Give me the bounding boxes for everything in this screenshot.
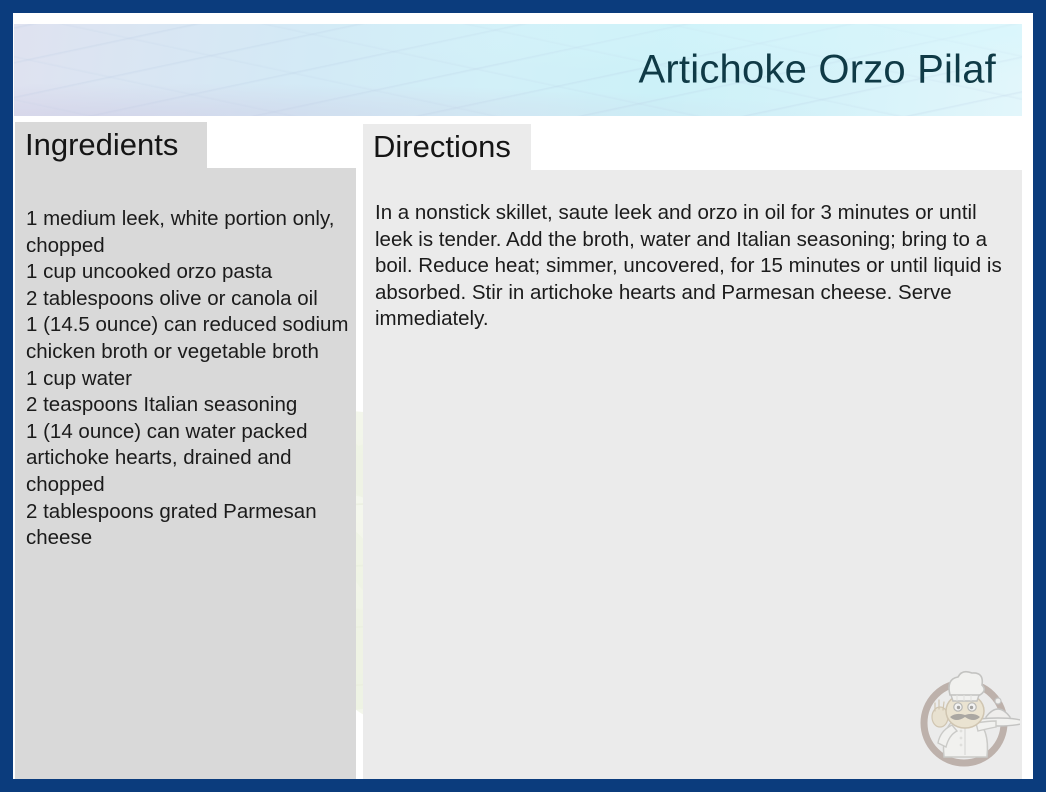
directions-panel: In a nonstick skillet, saute leek and or… — [363, 170, 1022, 779]
ingredients-list: 1 medium leek, white portion only, chopp… — [26, 206, 351, 552]
header-banner: Artichoke Orzo Pilaf — [14, 24, 1022, 116]
ingredients-heading-tab: Ingredients — [15, 122, 207, 168]
ingredients-heading: Ingredients — [25, 127, 178, 163]
recipe-slide: Artichoke Orzo Pilaf — [0, 0, 1046, 792]
page-title: Artichoke Orzo Pilaf — [639, 48, 996, 93]
ingredients-panel: 1 medium leek, white portion only, chopp… — [15, 168, 356, 779]
directions-text: In a nonstick skillet, saute leek and or… — [375, 200, 1012, 333]
directions-heading-tab: Directions — [363, 124, 531, 170]
directions-heading: Directions — [373, 129, 511, 165]
slide-page: Artichoke Orzo Pilaf — [13, 13, 1033, 779]
